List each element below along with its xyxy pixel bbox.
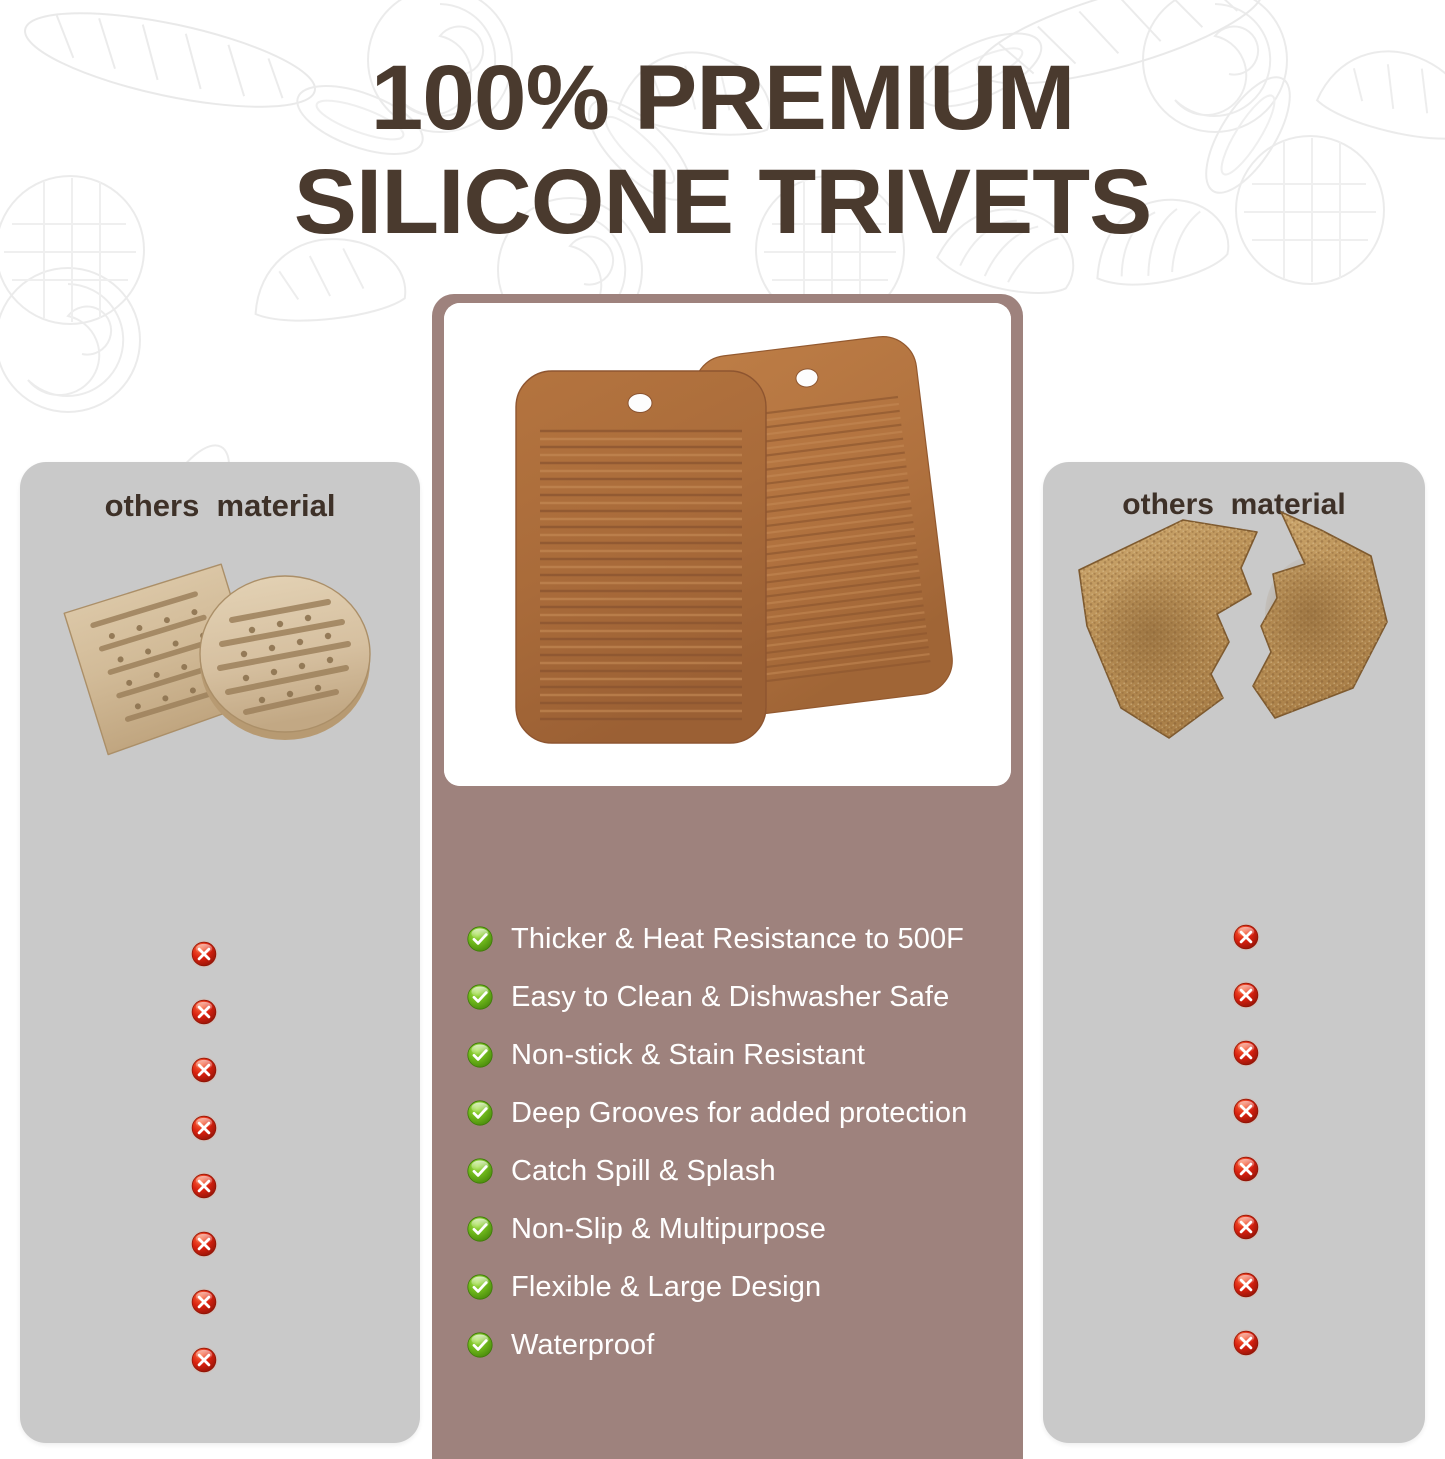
- bamboo-trivets-image: [50, 554, 390, 774]
- cross-circle-icon: [190, 1346, 218, 1374]
- feature-item: Catch Spill & Splash: [467, 1142, 1007, 1200]
- feature-label: Thicker & Heat Resistance to 500F: [511, 925, 964, 954]
- feature-item: Non-stick & Stain Resistant: [467, 1026, 1007, 1084]
- mark-row: [1229, 1314, 1263, 1372]
- mark-row: [1229, 1082, 1263, 1140]
- cross-circle-icon: [1232, 1039, 1260, 1067]
- cross-circle-icon: [1232, 1213, 1260, 1241]
- feature-item: Non-Slip & Multipurpose: [467, 1200, 1007, 1258]
- cross-circle-icon: [190, 1288, 218, 1316]
- broken-cork-trivet-image: [1065, 502, 1405, 750]
- check-circle-icon: [467, 1100, 493, 1126]
- feature-label: Non-Slip & Multipurpose: [511, 1215, 826, 1244]
- mark-row: [187, 983, 221, 1041]
- mark-row: [187, 1215, 221, 1273]
- cross-circle-icon: [1232, 1155, 1260, 1183]
- mark-row: [1229, 1140, 1263, 1198]
- feature-item: Waterproof: [467, 1316, 1007, 1374]
- cross-circle-icon: [190, 940, 218, 968]
- cross-circle-icon: [1232, 1329, 1260, 1357]
- cross-circle-icon: [1232, 923, 1260, 951]
- mark-row: [1229, 1024, 1263, 1082]
- cross-circle-icon: [190, 1172, 218, 1200]
- right-panel-mark-column: [1229, 908, 1263, 1372]
- product-highlight-panel: Thicker & Heat Resistance to 500F Easy t…: [432, 294, 1023, 1459]
- check-circle-icon: [467, 1158, 493, 1184]
- mark-row: [187, 925, 221, 983]
- mark-row: [1229, 1256, 1263, 1314]
- cross-circle-icon: [1232, 1271, 1260, 1299]
- feature-label: Catch Spill & Splash: [511, 1157, 776, 1186]
- feature-label: Flexible & Large Design: [511, 1273, 821, 1302]
- check-circle-icon: [467, 926, 493, 952]
- cross-circle-icon: [190, 1056, 218, 1084]
- cross-circle-icon: [1232, 981, 1260, 1009]
- cross-circle-icon: [190, 998, 218, 1026]
- feature-label: Easy to Clean & Dishwasher Safe: [511, 983, 949, 1012]
- left-panel-mark-column: [187, 925, 221, 1389]
- cross-circle-icon: [190, 1230, 218, 1258]
- feature-label: Waterproof: [511, 1331, 654, 1360]
- mark-row: [187, 1273, 221, 1331]
- comparison-panel-right: others material: [1043, 462, 1425, 1443]
- check-circle-icon: [467, 1332, 493, 1358]
- mark-row: [1229, 908, 1263, 966]
- cross-circle-icon: [1232, 1097, 1260, 1125]
- left-panel-heading: others material: [20, 488, 420, 524]
- feature-label: Non-stick & Stain Resistant: [511, 1041, 865, 1070]
- feature-item: Thicker & Heat Resistance to 500F: [467, 910, 1007, 968]
- mark-row: [187, 1157, 221, 1215]
- comparison-panel-left: others material: [20, 462, 420, 1443]
- check-circle-icon: [467, 984, 493, 1010]
- check-circle-icon: [467, 1216, 493, 1242]
- feature-item: Flexible & Large Design: [467, 1258, 1007, 1316]
- feature-item: Easy to Clean & Dishwasher Safe: [467, 968, 1007, 1026]
- cross-circle-icon: [190, 1114, 218, 1142]
- mark-row: [1229, 1198, 1263, 1256]
- check-circle-icon: [467, 1042, 493, 1068]
- mark-row: [1229, 966, 1263, 1024]
- mark-row: [187, 1099, 221, 1157]
- infographic-canvas: 100% PREMIUM SILICONE TRIVETS others mat…: [0, 0, 1445, 1459]
- feature-label: Deep Grooves for added protection: [511, 1099, 967, 1128]
- feature-list: Thicker & Heat Resistance to 500F Easy t…: [467, 910, 1007, 1374]
- check-circle-icon: [467, 1274, 493, 1300]
- mark-row: [187, 1041, 221, 1099]
- mark-row: [187, 1331, 221, 1389]
- feature-item: Deep Grooves for added protection: [467, 1084, 1007, 1142]
- silicone-trivets-image: [444, 303, 1011, 786]
